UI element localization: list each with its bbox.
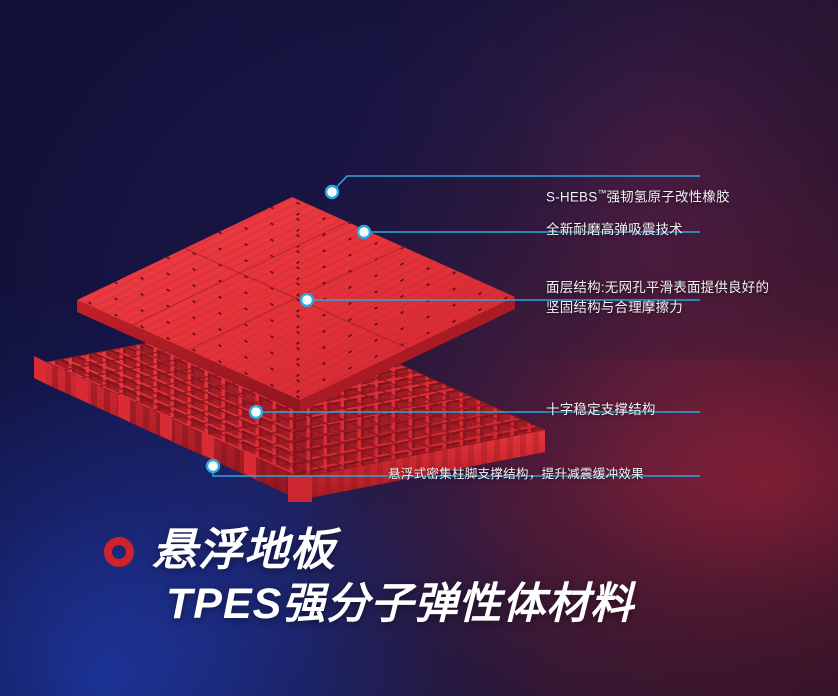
callout-wear-tech: 全新耐磨高弹吸震技术 (546, 220, 683, 240)
callout-column-support: 悬浮式密集柱脚支撑结构，提升减震缓冲效果 (388, 464, 644, 484)
callout-material-prefix: S-HEBS (546, 190, 597, 205)
callout-cross-support: 十字稳定支撑结构 (546, 400, 656, 420)
ring-bullet-icon (104, 537, 134, 567)
headline-line2: TPES强分子弹性体材料 (166, 578, 804, 630)
callout-surface-structure: 面层结构:无网孔平滑表面提供良好的 坚固结构与合理摩擦力 (546, 278, 836, 318)
base-corner-foot (288, 476, 312, 502)
callout-material: S-HEBS™强韧氢原子改性橡胶 (546, 163, 730, 208)
headline-line1-row: 悬浮地板 (104, 524, 804, 576)
headline-block: 悬浮地板 TPES强分子弹性体材料 (104, 524, 804, 630)
headline-line1: 悬浮地板 (152, 524, 336, 576)
infographic-stage: S-HEBS™强韧氢原子改性橡胶 全新耐磨高弹吸震技术 面层结构:无网孔平滑表面… (0, 0, 838, 696)
callout-material-suffix: 强韧氢原子改性橡胶 (606, 190, 729, 205)
